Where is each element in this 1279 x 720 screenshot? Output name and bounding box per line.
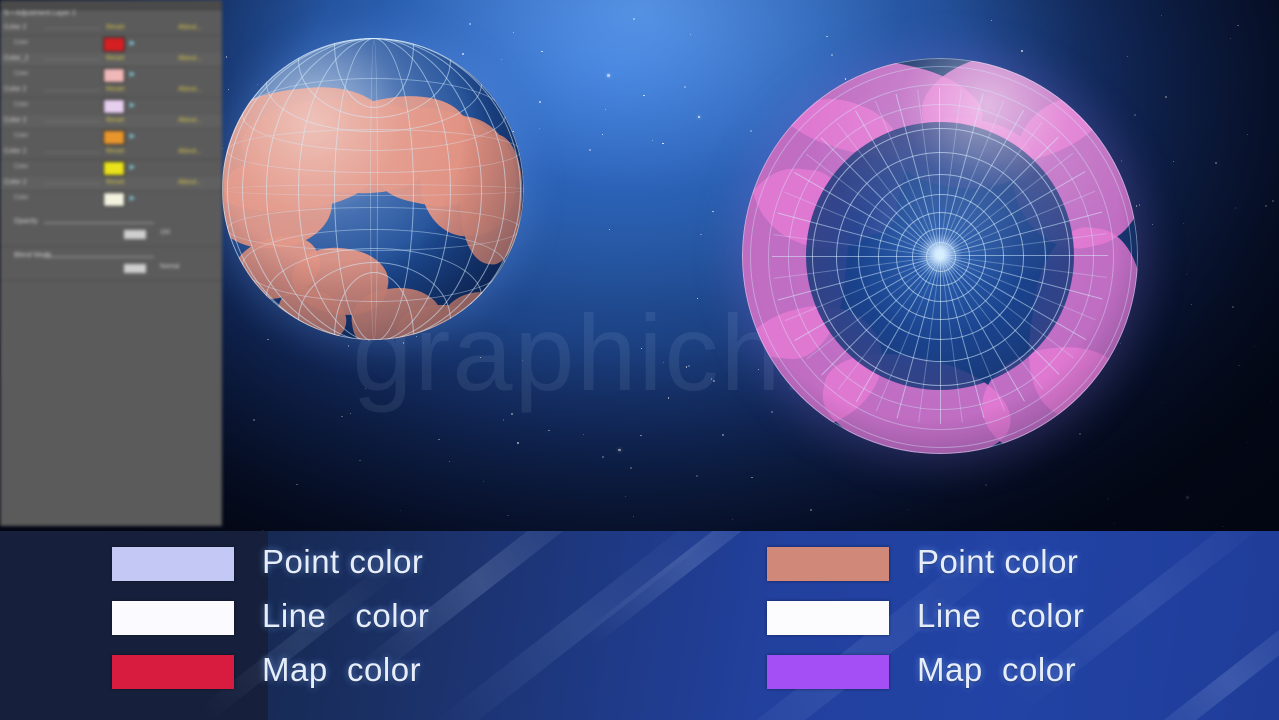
param-value: Normal [160, 264, 179, 270]
effect-row[interactable]: Color 2ResetAbout... [0, 22, 222, 36]
effect-row[interactable]: Color 2ResetAbout... [0, 146, 222, 160]
about-link[interactable]: About... [178, 148, 202, 155]
point-color-swatch[interactable] [112, 547, 234, 581]
legend-label: Point color [262, 543, 423, 581]
eyedropper-icon[interactable]: ➤ [128, 131, 139, 142]
effect-color-row[interactable]: Color➤ [0, 190, 222, 208]
param-slider[interactable] [44, 256, 154, 258]
globe-rim [222, 38, 524, 340]
eyedropper-icon[interactable]: ➤ [128, 162, 139, 173]
about-link[interactable]: About... [178, 24, 202, 31]
reset-link[interactable]: Reset [106, 117, 124, 124]
param-value-box[interactable] [124, 230, 146, 239]
color-swatch[interactable] [103, 192, 125, 207]
color-param-label: Color [14, 164, 28, 170]
effect-color-row[interactable]: Color➤ [0, 97, 222, 115]
legend-label: Line color [917, 597, 1084, 635]
effect-row[interactable]: Color 2ResetAbout... [0, 177, 222, 191]
reset-link[interactable]: Reset [106, 24, 124, 31]
effect-row-name: Color 2 [4, 179, 27, 186]
legend-bar: Point colorLine colorMap color Point col… [0, 531, 1279, 720]
effect-row-name: Color_2 [4, 55, 29, 62]
effect-row-name: Color 2 [4, 117, 27, 124]
legend-label: Map color [262, 651, 421, 689]
line-color-swatch[interactable] [767, 601, 889, 635]
color-swatch[interactable] [103, 130, 125, 145]
effect-color-row[interactable]: Color➤ [0, 128, 222, 146]
param-name: Opacity [14, 218, 38, 225]
param-value: 100 [160, 230, 170, 236]
color-param-label: Color [14, 71, 28, 77]
effect-row-name: Color 2 [4, 148, 27, 155]
globe-front-view [222, 38, 524, 340]
row-rule [44, 90, 100, 91]
globe-rim [742, 58, 1138, 454]
point-color-swatch[interactable] [767, 547, 889, 581]
legend-label: Point color [917, 543, 1078, 581]
color-param-label: Color [14, 102, 28, 108]
eyedropper-icon[interactable]: ➤ [128, 69, 139, 80]
about-link[interactable]: About... [178, 179, 202, 186]
eyedropper-icon[interactable]: ➤ [128, 38, 139, 49]
reset-link[interactable]: Reset [106, 55, 124, 62]
effect-param-row[interactable]: Opacity100 [0, 216, 222, 247]
effect-row[interactable]: Color 2ResetAbout... [0, 84, 222, 98]
map-color-swatch[interactable] [112, 655, 234, 689]
effect-row[interactable]: Color_2ResetAbout... [0, 53, 222, 67]
color-swatch[interactable] [103, 37, 125, 52]
color-swatch[interactable] [103, 99, 125, 114]
param-slider[interactable] [44, 222, 154, 224]
color-param-label: Color [14, 133, 28, 139]
color-param-label: Color [14, 40, 28, 46]
effect-param-row[interactable]: Blend ModeNormal [0, 250, 222, 281]
row-rule [44, 183, 100, 184]
about-link[interactable]: About... [178, 86, 202, 93]
effect-row-name: Color 2 [4, 24, 27, 31]
map-color-swatch[interactable] [767, 655, 889, 689]
effect-panel-titlebar[interactable] [0, 0, 222, 10]
color-swatch[interactable] [103, 68, 125, 83]
effect-controls-panel[interactable]: fx • Adjustment Layer 2 Color 2ResetAbou… [0, 0, 222, 526]
effect-color-row[interactable]: Color➤ [0, 35, 222, 53]
legend-label: Map color [917, 651, 1076, 689]
row-rule [44, 28, 100, 29]
row-rule [44, 121, 100, 122]
reset-link[interactable]: Reset [106, 148, 124, 155]
effect-row[interactable]: Color 2ResetAbout... [0, 115, 222, 129]
reset-link[interactable]: Reset [106, 86, 124, 93]
effect-panel-header: fx • Adjustment Layer 2 [4, 10, 76, 17]
globe-top-view [742, 58, 1138, 454]
effect-row-name: Color 2 [4, 86, 27, 93]
line-color-swatch[interactable] [112, 601, 234, 635]
effect-color-row[interactable]: Color➤ [0, 159, 222, 177]
screenshot-stage: graphichive Front Top fx • Adjustment La… [0, 0, 1279, 720]
eyedropper-icon[interactable]: ➤ [128, 100, 139, 111]
effect-color-row[interactable]: Color➤ [0, 66, 222, 84]
reset-link[interactable]: Reset [106, 179, 124, 186]
row-rule [44, 152, 100, 153]
color-param-label: Color [14, 195, 28, 201]
eyedropper-icon[interactable]: ➤ [128, 193, 139, 204]
about-link[interactable]: About... [178, 55, 202, 62]
param-value-box[interactable] [124, 264, 146, 273]
legend-label: Line color [262, 597, 429, 635]
row-rule [44, 59, 100, 60]
color-swatch[interactable] [103, 161, 125, 176]
about-link[interactable]: About... [178, 117, 202, 124]
